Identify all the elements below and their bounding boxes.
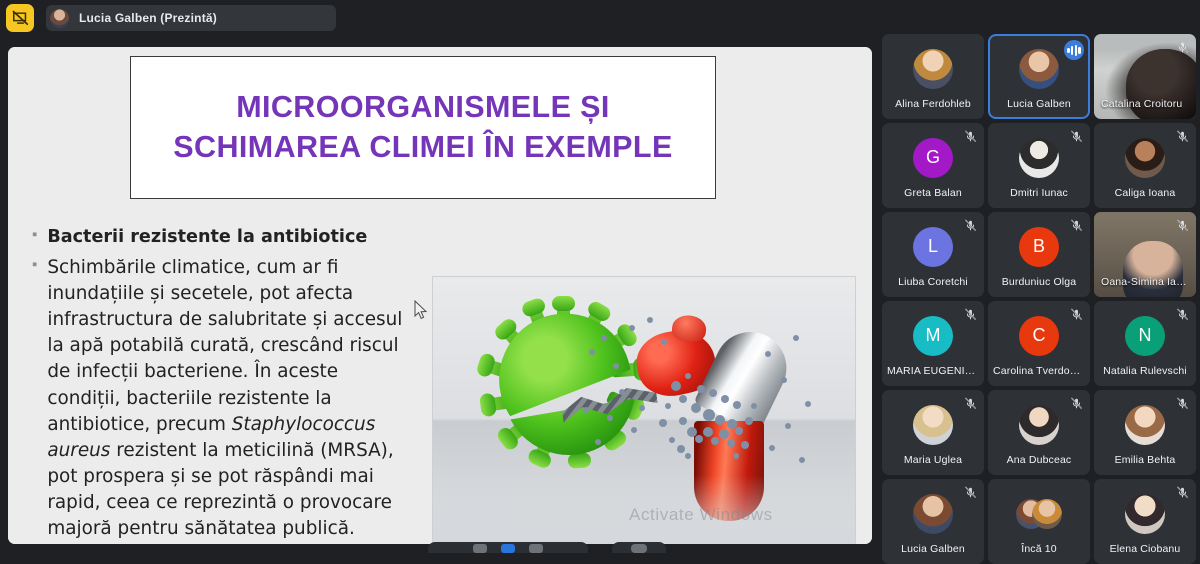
mic-off-icon [964,397,977,410]
mic-off-icon [1070,130,1083,143]
mic-off-icon [1176,308,1189,321]
granule-particle [607,415,613,421]
granule-particle [685,453,691,459]
participant-name: Greta Balan [882,187,984,199]
top-bar: Lucia Galben (Prezintă) [0,0,1200,36]
mic-off-icon [1176,41,1189,54]
granule-particle [733,453,739,459]
participant-name: Lucia Galben [988,98,1090,110]
participant-tile[interactable]: LLiuba Coretchi [882,212,984,297]
avatar [1125,494,1165,534]
granule-particle [695,435,703,443]
granule-particle [659,419,667,427]
granule-particle [721,395,729,403]
stop-screen-share-icon [12,10,29,27]
bullet-text: Bacterii rezistente la antibiotice [47,225,367,250]
granule-particle [733,401,741,409]
toolbar-button-sliver[interactable] [501,544,515,553]
participant-name: Încă 10 [988,543,1090,555]
participant-tile[interactable]: NNatalia Rulevschi [1094,301,1196,386]
granule-particle [765,351,771,357]
granule-particle [583,407,589,413]
granule-particle [685,373,691,379]
mic-off-icon [1070,219,1083,232]
participant-tile[interactable]: Emilia Behta [1094,390,1196,475]
participant-name: Burduniuc Olga [988,276,1090,288]
participant-tile[interactable]: Catalina Croitoru [1094,34,1196,119]
participant-name: Ana Dubceac [988,454,1090,466]
granule-particle [735,427,743,435]
slide-bullet-list: ▪ Bacterii rezistente la antibiotice ▪ S… [32,225,412,544]
granule-particle [669,437,675,443]
granule-particle [709,389,717,397]
slide-title-box: MICROORGANISMELE ȘI SCHIMAREA CLIMEI ÎN … [130,56,716,199]
avatar [1019,405,1059,445]
bullet-dot-icon: ▪ [32,256,37,275]
participant-tile[interactable]: BBurduniuc Olga [988,212,1090,297]
mic-off-icon [1176,397,1189,410]
overflow-avatar-pair [1016,499,1062,529]
list-item: ▪ Schimbările climatice, cum ar fi inund… [32,255,412,542]
granule-particle [751,403,757,409]
avatar: C [1019,316,1059,356]
granule-particle [679,417,687,425]
participant-name: Alina Ferdohleb [882,98,984,110]
speaking-indicator-icon [1064,40,1084,60]
participant-name: Oana-Simina Iac… [1094,276,1196,288]
list-item: ▪ Bacterii rezistente la antibiotice [32,225,412,250]
participant-name: Natalia Rulevschi [1094,365,1196,377]
avatar [913,49,953,89]
granule-particle [601,335,607,341]
avatar [1019,49,1059,89]
mic-off-icon [1176,130,1189,143]
participant-tile[interactable]: Lucia Galben [988,34,1090,119]
granule-particle [629,325,635,331]
granule-particle [781,377,787,383]
virus-vs-antibiotic-capsule-illustration: Activate Windows [432,276,856,544]
granule-particle [665,403,671,409]
mic-off-icon [1070,397,1083,410]
granule-particle [715,415,725,425]
granule-particle [805,401,811,407]
mic-off-icon [964,219,977,232]
participant-name: Emilia Behta [1094,454,1196,466]
participant-name: MARIA EUGENIA … [882,365,984,377]
toolbar-button-sliver[interactable] [529,544,543,553]
slide-title: MICROORGANISMELE ȘI SCHIMAREA CLIMEI ÎN … [131,88,715,166]
participant-name: Liuba Coretchi [882,276,984,288]
participant-grid[interactable]: Alina FerdohlebLucia GalbenCatalina Croi… [880,34,1198,546]
participant-tile[interactable]: GGreta Balan [882,123,984,208]
participant-tile[interactable]: CCarolina Tverdoh… [988,301,1090,386]
presentation-slide: MICROORGANISMELE ȘI SCHIMAREA CLIMEI ÎN … [8,47,872,544]
mouse-cursor [414,300,428,320]
granule-particle [671,381,681,391]
mic-off-icon [1176,219,1189,232]
granule-particle [741,441,749,449]
granule-particle [613,363,619,369]
participant-name: Maria Uglea [882,454,984,466]
bullet-text: Schimbările climatice, cum ar fi inundaț… [47,255,412,542]
granule-particle [677,445,685,453]
presenter-indicator[interactable]: Lucia Galben (Prezintă) [46,5,336,31]
avatar [913,405,953,445]
granule-particle [691,403,701,413]
participant-tile[interactable]: Dmitri Iunac [988,123,1090,208]
participant-tile[interactable]: Alina Ferdohleb [882,34,984,119]
avatar [1125,405,1165,445]
participant-name: Catalina Croitoru [1094,98,1196,110]
participant-name: Lucia Galben [882,543,984,555]
granule-particle [639,405,645,411]
mic-off-icon [1070,308,1083,321]
granule-particle [589,349,595,355]
participant-tile[interactable]: Caliga Ioana [1094,123,1196,208]
mic-off-icon [964,308,977,321]
granule-particle [647,317,653,323]
avatar: L [913,227,953,267]
granule-particle [697,385,705,393]
presenter-name: Lucia Galben (Prezintă) [79,11,217,25]
granule-particle [595,439,601,445]
avatar: M [913,316,953,356]
participant-name: Dmitri Iunac [988,187,1090,199]
participant-tile[interactable]: Ana Dubceac [988,390,1090,475]
granule-particle [793,335,799,341]
avatar: G [913,138,953,178]
granule-particle [711,437,719,445]
mic-off-icon [964,486,977,499]
participant-tile[interactable]: Lucia Galben [882,479,984,564]
meeting-toolbar-sliver-secondary[interactable] [612,542,666,553]
granule-particle [679,395,687,403]
participant-tile[interactable]: Oana-Simina Iac… [1094,212,1196,297]
participant-name: Carolina Tverdoh… [988,365,1090,377]
bullet-dot-icon: ▪ [32,226,37,245]
granule-particle [631,427,637,433]
toolbar-button-sliver[interactable] [631,544,647,553]
presenter-avatar [50,9,69,28]
avatar: N [1125,316,1165,356]
granule-particle [769,445,775,451]
granule-particle [727,439,735,447]
participant-tile[interactable]: Maria Uglea [882,390,984,475]
meeting-toolbar-sliver[interactable] [428,542,588,553]
avatar: B [1019,227,1059,267]
participant-name: Elena Ciobanu [1094,543,1196,555]
granule-particle [703,427,713,437]
granule-particle [745,417,753,425]
mic-off-icon [964,130,977,143]
avatar [913,494,953,534]
granule-particle [703,409,715,421]
participant-tile[interactable]: MMARIA EUGENIA … [882,301,984,386]
stop-screen-share-button[interactable] [6,4,34,32]
participant-name: Caliga Ioana [1094,187,1196,199]
granule-particle [785,423,791,429]
granule-particle [799,457,805,463]
shared-screen-stage[interactable]: MICROORGANISMELE ȘI SCHIMAREA CLIMEI ÎN … [8,47,872,544]
granule-particle [619,389,625,395]
granule-particle [719,429,729,439]
participant-tile[interactable]: Elena Ciobanu [1094,479,1196,564]
mic-off-icon [1176,486,1189,499]
toolbar-button-sliver[interactable] [473,544,487,553]
granule-particle [661,339,667,345]
avatar [1125,138,1165,178]
participant-tile[interactable]: Încă 10 [988,479,1090,564]
avatar [1019,138,1059,178]
activate-windows-watermark: Activate Windows [629,505,773,525]
